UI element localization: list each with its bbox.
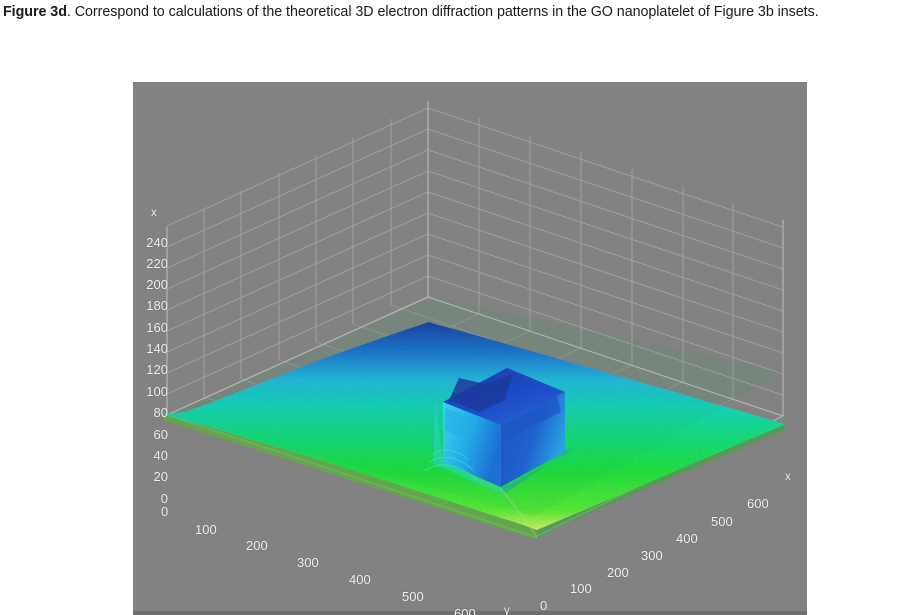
y-axis-tick: 200	[246, 539, 268, 552]
z-axis-tick: 60	[134, 428, 168, 441]
z-axis-tick: 180	[134, 299, 168, 312]
figure-caption-text: . Correspond to calculations of the theo…	[67, 4, 819, 20]
x-axis-tick: 300	[641, 549, 663, 562]
x-axis-tick: 100	[570, 582, 592, 595]
y-axis-tick: 300	[297, 556, 319, 569]
y-axis-tick: 400	[349, 573, 371, 586]
z-axis-label: x	[151, 207, 157, 220]
surface-plot-figure[interactable]: x 240 220 200 180 160 140 120 100 80 60 …	[133, 82, 807, 615]
x-axis-origin-tick: 0	[540, 599, 547, 612]
x-axis-tick: 600	[747, 497, 769, 510]
z-axis-tick: 140	[134, 342, 168, 355]
figure-caption-label: Figure 3d	[3, 4, 67, 20]
x-axis-tick: 400	[676, 532, 698, 545]
figure-caption: Figure 3d. Correspond to calculations of…	[3, 2, 919, 23]
y-axis-label: y	[504, 605, 510, 615]
x-axis-label: x	[785, 471, 791, 484]
y-axis-tick: 600	[454, 607, 476, 615]
z-axis-tick: 200	[134, 278, 168, 291]
z-axis-tick: 20	[134, 470, 168, 483]
z-axis-tick: 120	[134, 363, 168, 376]
y-axis-origin-tick: 0	[161, 505, 168, 518]
surface-plot-canvas	[133, 82, 807, 615]
z-axis-tick: 100	[134, 385, 168, 398]
z-axis-tick: 40	[134, 449, 168, 462]
z-axis-tick: 220	[134, 257, 168, 270]
x-axis-tick: 200	[607, 566, 629, 579]
z-axis-tick: 240	[134, 236, 168, 249]
x-axis-tick: 500	[711, 515, 733, 528]
y-axis-tick: 100	[195, 523, 217, 536]
y-axis-tick: 500	[402, 590, 424, 603]
z-axis-tick: 160	[134, 321, 168, 334]
z-axis-tick: 80	[134, 406, 168, 419]
